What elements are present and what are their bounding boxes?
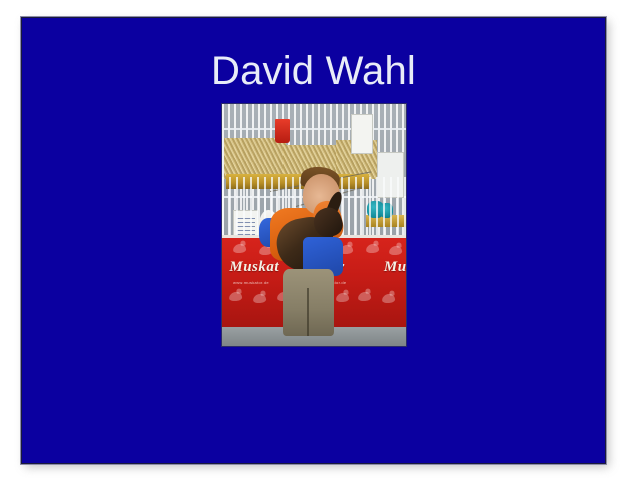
pigeon-silhouette-icon bbox=[389, 245, 403, 255]
banner-brand-text-right: Mus bbox=[384, 259, 406, 276]
cage-rail bbox=[222, 128, 406, 130]
cage-info-card bbox=[377, 152, 405, 198]
pigeon-silhouette-icon bbox=[233, 243, 247, 253]
pigeon-silhouette-icon bbox=[358, 291, 372, 301]
pigeon-silhouette-icon bbox=[253, 293, 267, 303]
hay-pile bbox=[224, 138, 287, 179]
pigeon-silhouette-icon bbox=[382, 293, 396, 303]
boy-leg-separation bbox=[307, 288, 309, 336]
pigeon-silhouette-icon bbox=[365, 243, 379, 253]
cage-info-card bbox=[351, 114, 373, 155]
slide-canvas: David Wahl bbox=[0, 0, 630, 483]
water-bowl bbox=[380, 203, 393, 218]
photo-content: Muskat ator Mus www.muskator.de muskator… bbox=[222, 104, 406, 346]
pigeon-silhouette-icon bbox=[336, 292, 350, 302]
pigeon-silhouette-icon bbox=[229, 291, 243, 301]
presentation-slide: David Wahl bbox=[22, 18, 605, 463]
banner-brand-text-left: Muskat bbox=[229, 259, 279, 276]
slide-title: David Wahl bbox=[22, 48, 605, 94]
banner-url-left: www.muskator.de bbox=[233, 280, 269, 285]
red-feeder-cup bbox=[275, 119, 290, 143]
slide-photo: Muskat ator Mus www.muskator.de muskator… bbox=[222, 104, 406, 346]
